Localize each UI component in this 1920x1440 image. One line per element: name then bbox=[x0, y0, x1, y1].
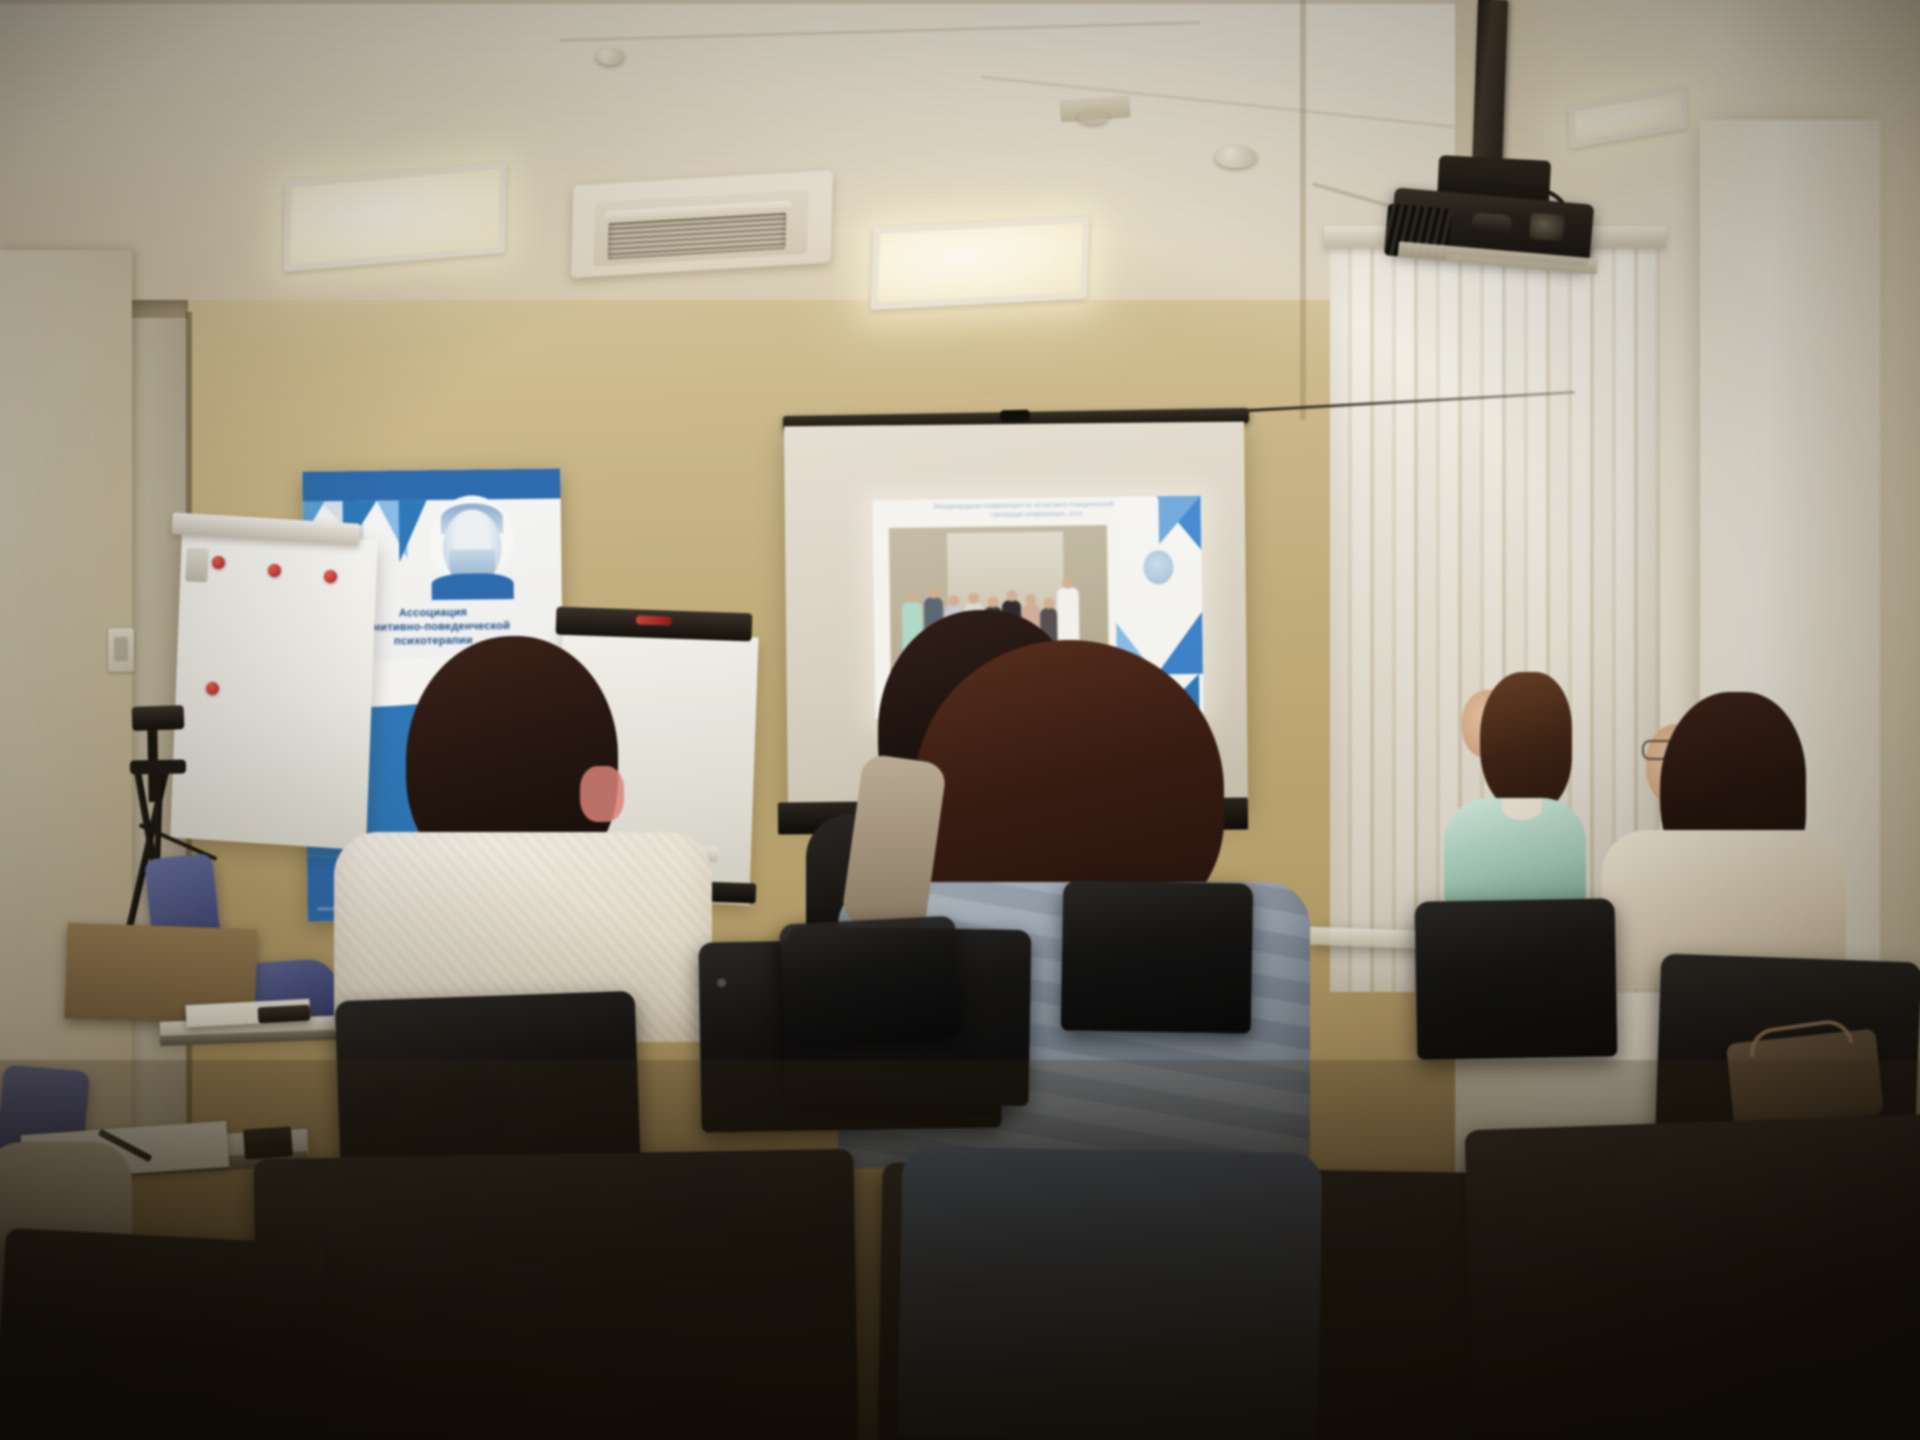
red-magnet[interactable] bbox=[212, 556, 225, 569]
seminar-room-photo: Международная конференция по когнитивно-… bbox=[0, 0, 1920, 1440]
smoke-detector bbox=[596, 48, 624, 65]
attendee-mint-top bbox=[1428, 672, 1578, 902]
attendee-neck-scarf bbox=[580, 766, 624, 822]
slide-logo bbox=[1143, 550, 1173, 584]
chair[interactable] bbox=[1415, 898, 1618, 1059]
red-magnet[interactable] bbox=[324, 570, 337, 583]
chair[interactable] bbox=[779, 915, 961, 1044]
projector-control-panel[interactable] bbox=[1471, 212, 1512, 233]
attendee-white-sweater bbox=[368, 636, 698, 1036]
banner-portrait-collar bbox=[432, 573, 514, 600]
ceiling-fixture bbox=[1078, 110, 1108, 124]
light-switch[interactable] bbox=[108, 628, 134, 672]
tripod-camera-head[interactable] bbox=[132, 705, 185, 731]
smoke-detector bbox=[1215, 146, 1257, 168]
board-red-accent bbox=[636, 615, 672, 625]
attendee-collar bbox=[1502, 798, 1542, 820]
red-magnet[interactable] bbox=[206, 682, 219, 695]
screen-bar-bracket bbox=[1000, 410, 1030, 423]
ceiling-light-panel bbox=[871, 216, 1090, 310]
tablet-device[interactable] bbox=[258, 1005, 311, 1024]
floor-foreground bbox=[0, 1060, 1920, 1440]
projector-lens bbox=[1529, 213, 1565, 242]
projector-pole-mount bbox=[1472, 0, 1508, 172]
wall-corner-seam bbox=[1300, 0, 1306, 420]
attendee-cream-sweater bbox=[1598, 690, 1848, 990]
red-magnet[interactable] bbox=[268, 564, 281, 577]
tripod-leg-spreader bbox=[130, 760, 186, 775]
attendee-hair bbox=[1480, 672, 1572, 812]
chair[interactable] bbox=[1061, 880, 1254, 1033]
